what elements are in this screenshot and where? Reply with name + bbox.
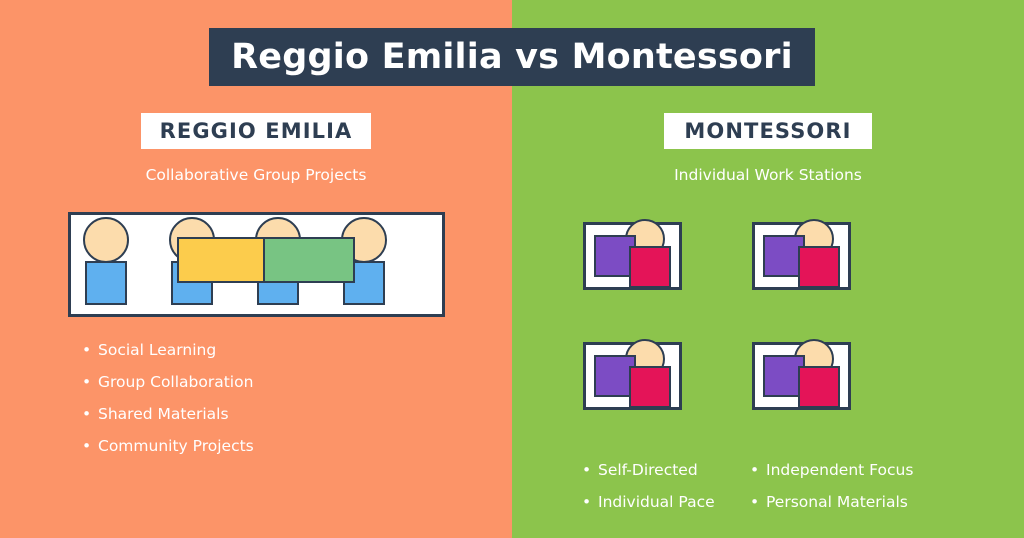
montessori-badge-label: MONTESSORI [684, 119, 851, 143]
list-item-label: Independent Focus [766, 461, 913, 479]
bullet-marker-icon: • [750, 493, 766, 511]
list-item: • Personal Materials [750, 493, 913, 511]
material-crimson-icon [798, 246, 840, 288]
list-item-label: Personal Materials [766, 493, 908, 511]
montessori-subtitle: Individual Work Stations [512, 166, 1024, 188]
bullet-marker-icon: • [582, 461, 598, 479]
infographic-root: Reggio Emilia vs Montessori REGGIO EMILI… [0, 0, 1024, 538]
collaborative-group-illustration [68, 212, 445, 317]
list-item-label: Social Learning [98, 341, 216, 359]
child-head-icon [83, 217, 129, 263]
list-item: • Group Collaboration [82, 373, 254, 391]
list-item-label: Community Projects [98, 437, 254, 455]
list-item-label: Individual Pace [598, 493, 715, 511]
child-figure-1 [83, 217, 129, 305]
bullet-marker-icon: • [82, 405, 98, 423]
page-title: Reggio Emilia vs Montessori [231, 37, 793, 77]
child-body-icon [85, 261, 127, 305]
work-station-2 [752, 222, 851, 290]
shared-table-green-icon [263, 237, 355, 283]
reggio-emilia-badge-label: REGGIO EMILIA [160, 119, 353, 143]
bullet-marker-icon: • [82, 437, 98, 455]
child-figure-2 [169, 217, 215, 305]
list-item: • Independent Focus [750, 461, 913, 479]
bullet-marker-icon: • [750, 461, 766, 479]
list-item-label: Group Collaboration [98, 373, 253, 391]
work-station-3 [583, 342, 682, 410]
bullet-marker-icon: • [582, 493, 598, 511]
material-crimson-icon [798, 366, 840, 408]
reggio-emilia-badge: REGGIO EMILIA [141, 113, 371, 149]
bullet-marker-icon: • [82, 341, 98, 359]
list-item: • Individual Pace [582, 493, 715, 511]
list-item: • Shared Materials [82, 405, 254, 423]
work-station-4 [752, 342, 851, 410]
list-item-label: Self-Directed [598, 461, 698, 479]
shared-table-yellow-icon [177, 237, 269, 283]
title-banner: Reggio Emilia vs Montessori [209, 28, 815, 86]
list-item-label: Shared Materials [98, 405, 229, 423]
material-crimson-icon [629, 366, 671, 408]
montessori-feature-list-column-1: • Self-Directed • Individual Pace [582, 461, 715, 525]
list-item: • Community Projects [82, 437, 254, 455]
material-crimson-icon [629, 246, 671, 288]
reggio-emilia-subtitle: Collaborative Group Projects [0, 166, 512, 188]
list-item: • Social Learning [82, 341, 254, 359]
work-station-1 [583, 222, 682, 290]
reggio-emilia-feature-list: • Social Learning • Group Collaboration … [82, 341, 254, 469]
montessori-badge: MONTESSORI [664, 113, 872, 149]
montessori-feature-list-column-2: • Independent Focus • Personal Materials [750, 461, 913, 525]
bullet-marker-icon: • [82, 373, 98, 391]
list-item: • Self-Directed [582, 461, 715, 479]
